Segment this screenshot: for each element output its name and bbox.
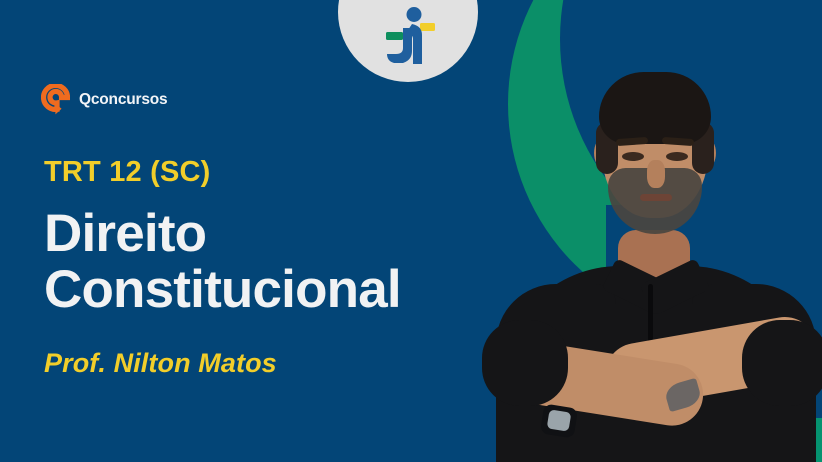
teacher-name: Prof. Nilton Matos [44, 348, 277, 379]
presenter-photo [486, 34, 822, 462]
presenter-sleeve-left [482, 320, 568, 406]
presenter-sleeve-right [742, 320, 822, 406]
qconcursos-q-mark-icon [41, 84, 70, 115]
page-title-line-1: Direito [44, 206, 401, 262]
presenter-eye-right [666, 152, 688, 161]
brand-lockup: Qconcursos [41, 84, 167, 115]
presenter-watch-face [547, 409, 572, 431]
page-title: Direito Constitucional [44, 206, 401, 318]
thumbnail-canvas: Qconcursos TRT 12 (SC) Direito Constituc… [0, 0, 822, 462]
presenter-eye-left [622, 152, 644, 161]
course-eyebrow: TRT 12 (SC) [44, 156, 211, 189]
presenter-hair [599, 72, 711, 144]
presenter-nose [647, 160, 665, 188]
trt-running-figure-icon [378, 6, 438, 68]
page-title-line-2: Constitucional [44, 262, 401, 318]
brand-wordmark: Qconcursos [79, 91, 167, 109]
presenter-mouth [640, 194, 672, 201]
